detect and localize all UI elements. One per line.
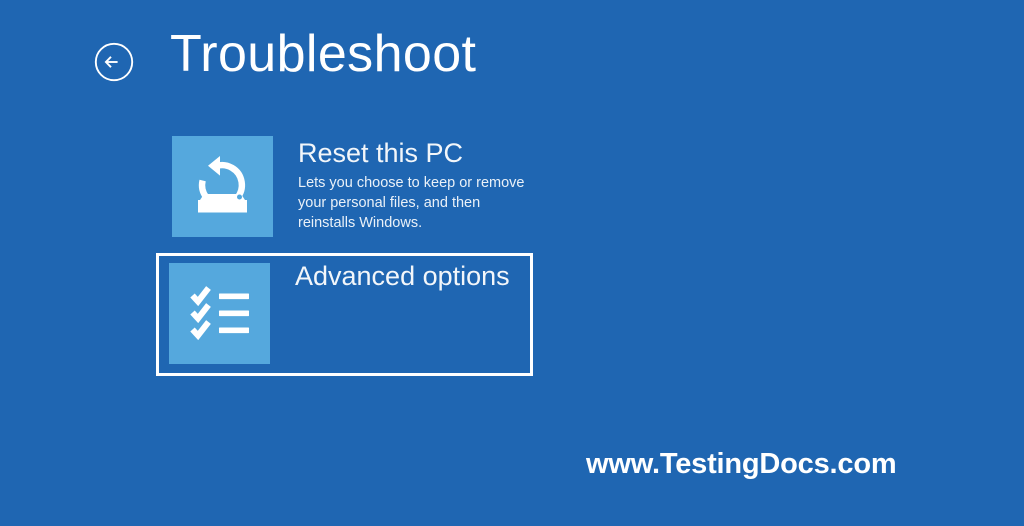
option-advanced-options[interactable]: Advanced options [156,253,533,376]
checklist-icon [169,263,270,364]
checklist-icon-tile [169,263,270,364]
option-advanced-title: Advanced options [295,259,527,293]
option-reset-title: Reset this PC [298,136,530,170]
page-title: Troubleshoot [170,28,476,80]
troubleshoot-screen: Troubleshoot Reset this PC Lets you choo… [0,0,1024,526]
option-reset-text: Reset this PC Lets you choose to keep or… [273,136,530,233]
option-advanced-text: Advanced options [270,256,527,296]
reset-pc-icon [172,136,273,237]
reset-pc-icon-tile [172,136,273,237]
watermark: www.TestingDocs.com [586,448,896,481]
option-reset-description: Lets you choose to keep or remove your p… [298,173,530,233]
arrow-left-circle-icon [94,42,134,82]
header: Troubleshoot [94,26,476,82]
option-reset-this-pc[interactable]: Reset this PC Lets you choose to keep or… [156,133,533,256]
back-button[interactable] [94,42,134,82]
